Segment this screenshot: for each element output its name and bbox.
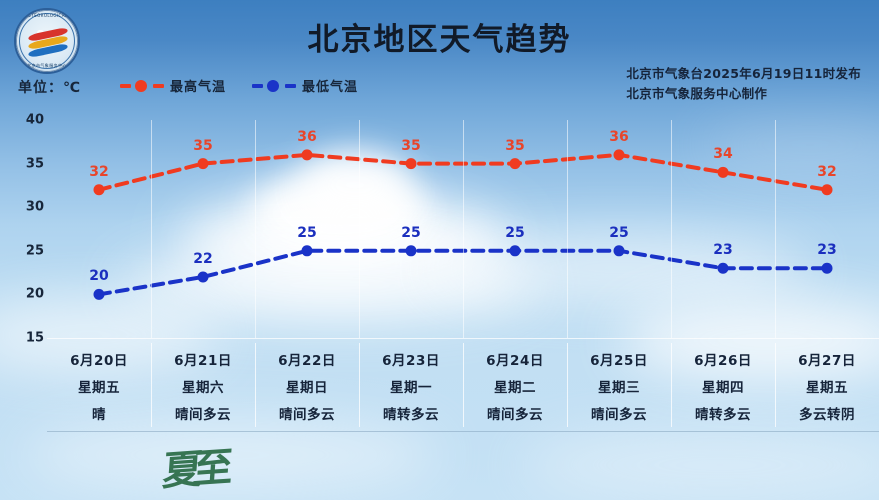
forecast-weekday: 星期三 — [567, 375, 671, 402]
forecast-weekday: 星期五 — [775, 375, 879, 402]
chart-legend: 最高气温 最低气温 — [120, 76, 358, 95]
forecast-condition: 晴 — [47, 402, 151, 429]
data-label-high: 32 — [89, 164, 108, 180]
y-axis-labels: 403530252015 — [14, 114, 44, 344]
data-label-high: 32 — [817, 164, 836, 180]
y-axis-tick-25: 25 — [26, 243, 44, 258]
forecast-column-5[interactable]: 6月24日星期二晴间多云 — [463, 339, 567, 431]
forecast-column-2[interactable]: 6月21日星期六晴间多云 — [151, 339, 255, 431]
forecast-condition: 多云转阴 — [775, 402, 879, 429]
forecast-column-6[interactable]: 6月25日星期三晴间多云 — [567, 339, 671, 431]
credit-line-1: 北京市气象台2025年6月19日11时发布 — [626, 64, 861, 84]
page-title: 北京地区天气趋势 — [0, 14, 879, 59]
legend-marker-low-icon — [252, 80, 298, 92]
y-axis-tick-40: 40 — [26, 113, 44, 128]
forecast-condition: 晴间多云 — [567, 402, 671, 429]
legend-label-low: 最低气温 — [302, 76, 358, 95]
forecast-weekday: 星期五 — [47, 375, 151, 402]
forecast-date: 6月26日 — [671, 348, 775, 375]
data-point — [822, 263, 833, 274]
credit-line-2: 北京市气象服务中心制作 — [626, 84, 861, 104]
data-label-high: 36 — [297, 129, 316, 145]
forecast-date: 6月24日 — [463, 348, 567, 375]
data-point — [94, 184, 105, 195]
grid-line-vertical — [775, 120, 776, 338]
data-point — [406, 245, 417, 256]
y-axis-tick-20: 20 — [26, 287, 44, 302]
forecast-date: 6月23日 — [359, 348, 463, 375]
data-point — [822, 184, 833, 195]
grid-line-vertical — [151, 120, 152, 338]
data-label-low: 25 — [609, 225, 628, 241]
forecast-condition: 晴间多云 — [255, 402, 359, 429]
legend-item-high: 最高气温 — [120, 76, 226, 95]
data-label-low: 20 — [89, 268, 108, 284]
data-label-low: 22 — [193, 251, 212, 267]
y-axis-tick-15: 15 — [26, 331, 44, 346]
data-label-high: 36 — [609, 129, 628, 145]
publisher-credit: 北京市气象台2025年6月19日11时发布 北京市气象服务中心制作 — [626, 64, 861, 104]
data-point — [718, 263, 729, 274]
legend-item-low: 最低气温 — [252, 76, 358, 95]
chart-plot-area: 32353635353634322022252525252323 — [47, 120, 879, 338]
data-label-low: 23 — [713, 242, 732, 258]
forecast-date: 6月25日 — [567, 348, 671, 375]
data-label-high: 34 — [713, 146, 732, 162]
forecast-weekday: 星期六 — [151, 375, 255, 402]
data-point — [510, 158, 521, 169]
forecast-date: 6月22日 — [255, 348, 359, 375]
weather-trend-graphic: BEIJING METEOROLOGICAL SERVICE 北京市气象服务中心… — [0, 0, 879, 500]
data-point — [614, 245, 625, 256]
grid-line-vertical — [567, 120, 568, 338]
data-point — [614, 149, 625, 160]
forecast-weekday: 星期二 — [463, 375, 567, 402]
data-point — [198, 271, 209, 282]
forecast-date: 6月20日 — [47, 348, 151, 375]
calligraphy-watermark: 夏至 — [161, 435, 226, 497]
data-point — [94, 289, 105, 300]
legend-marker-high-icon — [120, 80, 166, 92]
data-point — [302, 245, 313, 256]
data-label-low: 23 — [817, 242, 836, 258]
forecast-condition: 晴转多云 — [359, 402, 463, 429]
forecast-date: 6月21日 — [151, 348, 255, 375]
forecast-condition: 晴间多云 — [463, 402, 567, 429]
data-label-low: 25 — [401, 225, 420, 241]
data-label-high: 35 — [505, 138, 524, 154]
forecast-column-3[interactable]: 6月22日星期日晴间多云 — [255, 339, 359, 431]
data-point — [510, 245, 521, 256]
legend-label-high: 最高气温 — [170, 76, 226, 95]
data-point — [198, 158, 209, 169]
forecast-condition: 晴间多云 — [151, 402, 255, 429]
forecast-column-7[interactable]: 6月26日星期四晴转多云 — [671, 339, 775, 431]
data-label-high: 35 — [193, 138, 212, 154]
forecast-weekday: 星期一 — [359, 375, 463, 402]
forecast-table: 6月20日星期五晴6月21日星期六晴间多云6月22日星期日晴间多云6月23日星期… — [47, 338, 879, 432]
data-point — [406, 158, 417, 169]
data-point — [718, 167, 729, 178]
y-axis-tick-30: 30 — [26, 200, 44, 215]
logo-text-bottom: 北京市气象服务中心 — [27, 63, 67, 69]
forecast-weekday: 星期日 — [255, 375, 359, 402]
forecast-condition: 晴转多云 — [671, 402, 775, 429]
unit-label: 单位：℃ — [18, 77, 81, 97]
grid-line-vertical — [359, 120, 360, 338]
forecast-column-4[interactable]: 6月23日星期一晴转多云 — [359, 339, 463, 431]
forecast-column-1[interactable]: 6月20日星期五晴 — [47, 339, 151, 431]
forecast-column-8[interactable]: 6月27日星期五多云转阴 — [775, 339, 879, 431]
y-axis-tick-35: 35 — [26, 156, 44, 171]
grid-line-vertical — [463, 120, 464, 338]
grid-line-vertical — [671, 120, 672, 338]
grid-line-vertical — [255, 120, 256, 338]
data-label-low: 25 — [505, 225, 524, 241]
data-label-high: 35 — [401, 138, 420, 154]
forecast-date: 6月27日 — [775, 348, 879, 375]
forecast-weekday: 星期四 — [671, 375, 775, 402]
data-label-low: 25 — [297, 225, 316, 241]
data-point — [302, 149, 313, 160]
